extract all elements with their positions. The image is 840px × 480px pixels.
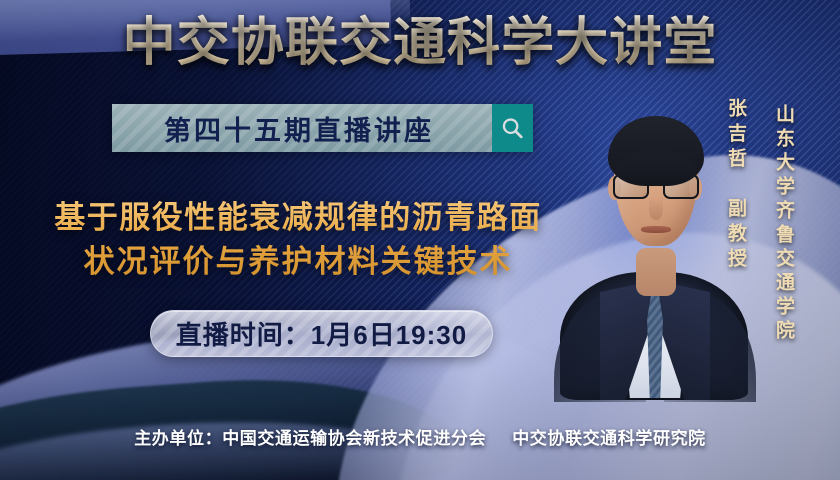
organizer-primary: 中国交通运输协会新技术促进分会	[222, 429, 486, 448]
page-title: 中交协联交通科学大讲堂	[0, 14, 840, 72]
search-icon	[500, 116, 525, 141]
live-lecture-poster: 中交协联交通科学大讲堂 第四十五期直播讲座 基于服役性能衰减规律的沥青路面 状况…	[0, 0, 840, 480]
episode-label: 第四十五期直播讲座	[112, 104, 492, 152]
lecture-title-line-2: 状况评价与养护材料关键技术	[24, 240, 572, 284]
portrait-mouth	[641, 226, 671, 233]
episode-bar: 第四十五期直播讲座	[112, 104, 533, 152]
lecture-title: 基于服役性能衰减规律的沥青路面 状况评价与养护材料关键技术	[24, 196, 572, 284]
portrait-neck	[636, 248, 676, 296]
search-button[interactable]	[492, 104, 533, 152]
organizer-label: 主办单位：	[134, 429, 222, 448]
broadcast-time-badge: 直播时间：1月6日19:30	[150, 310, 493, 357]
speaker-organization: 山东大学齐鲁交通学院	[770, 104, 796, 344]
footer-organizers: 主办单位：中国交通运输协会新技术促进分会中交协联交通科学研究院	[0, 424, 840, 449]
organizer-secondary: 中交协联交通科学研究院	[512, 429, 706, 448]
speaker-name-title: 张吉哲 副教授	[722, 98, 748, 273]
lecture-title-line-1: 基于服役性能衰减规律的沥青路面	[24, 196, 572, 240]
